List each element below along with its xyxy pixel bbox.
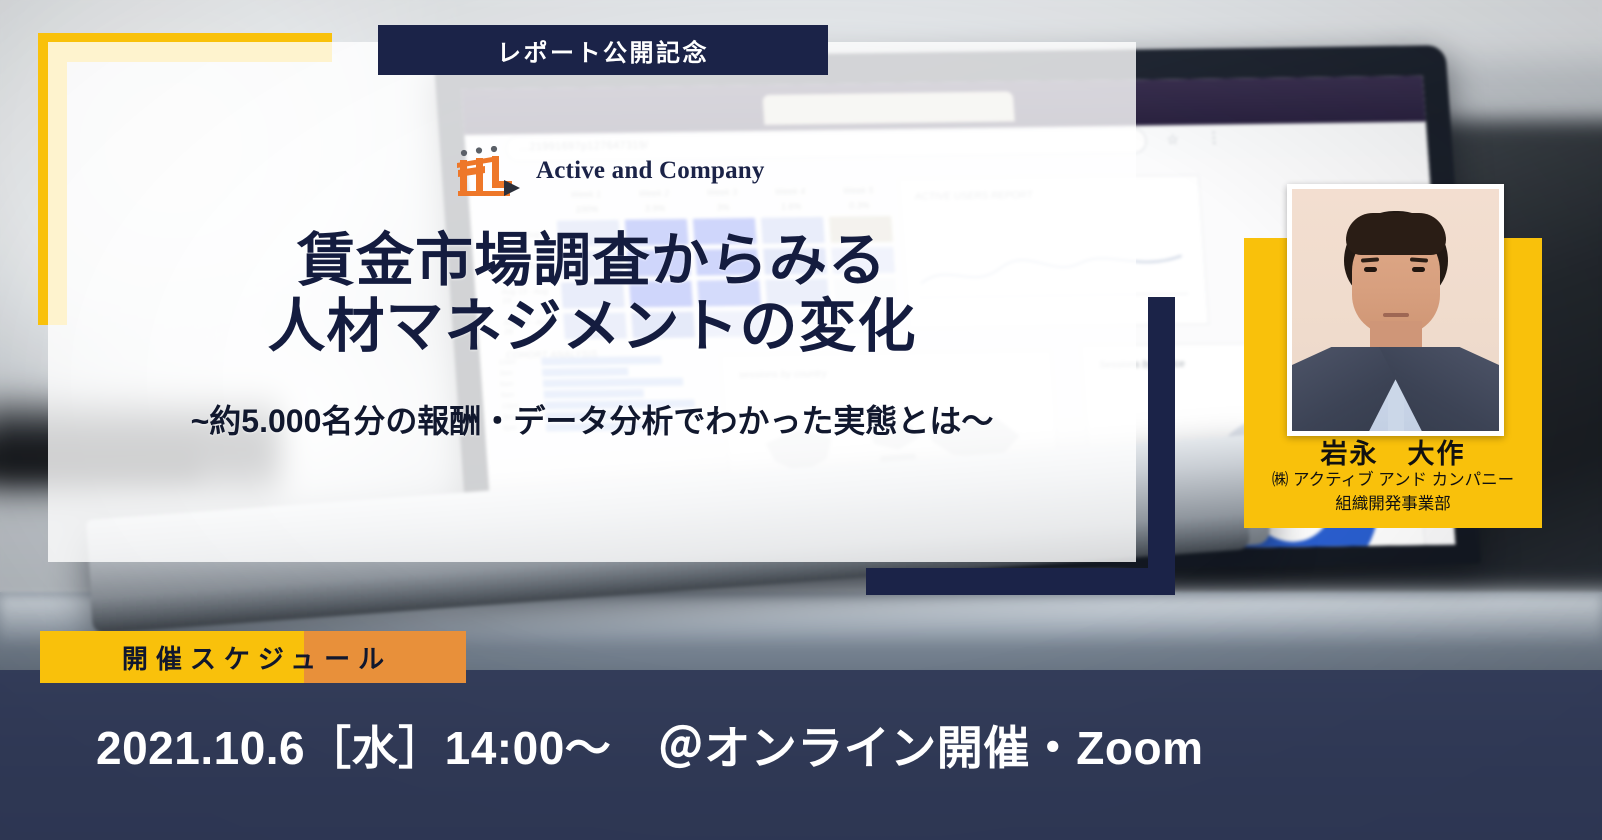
portrait-mouth [1383,313,1409,317]
poster-root: ...21991697p127647319/ ☆ ⋮ Week 1 Week 2… [0,0,1602,840]
portrait-eye-left [1364,267,1377,272]
page-subtitle: ~約5.000名分の報酬・データ分析でわかった実態とは～ [48,396,1136,442]
speaker-department: 組織開発事業部 [1244,490,1542,514]
company-logo: Active and Company [452,146,765,196]
portrait-eye-right [1412,267,1425,272]
avatar [1292,189,1499,431]
schedule-banner-label: 開催スケジュール [114,639,392,676]
speaker-organization: ㈱ アクティブ アンド カンパニー [1234,466,1552,490]
company-logo-text: Active and Company [536,157,765,185]
page-title-line-2: 人材マネジメントの変化 [48,294,1136,360]
page-title-line-1: 賃金市場調査からみる [48,228,1136,294]
hh-arrow-logo-icon [452,146,520,196]
portrait-hair-front [1346,213,1446,255]
schedule-date-line: 2021.10.6［水］14:00～ ＠オンライン開催・Zoom [96,712,1204,778]
page-title: 賃金市場調査からみる 人材マネジメントの変化 [48,228,1136,359]
decorative-navy-bracket-horizontal [866,568,1175,595]
header-banner: レポート公開記念 [378,25,828,75]
header-banner-label: レポート公開記念 [497,33,709,68]
decorative-navy-bracket-vertical [1148,297,1175,595]
schedule-banner: 開催スケジュール [40,631,466,683]
speaker-photo-frame [1287,184,1504,436]
